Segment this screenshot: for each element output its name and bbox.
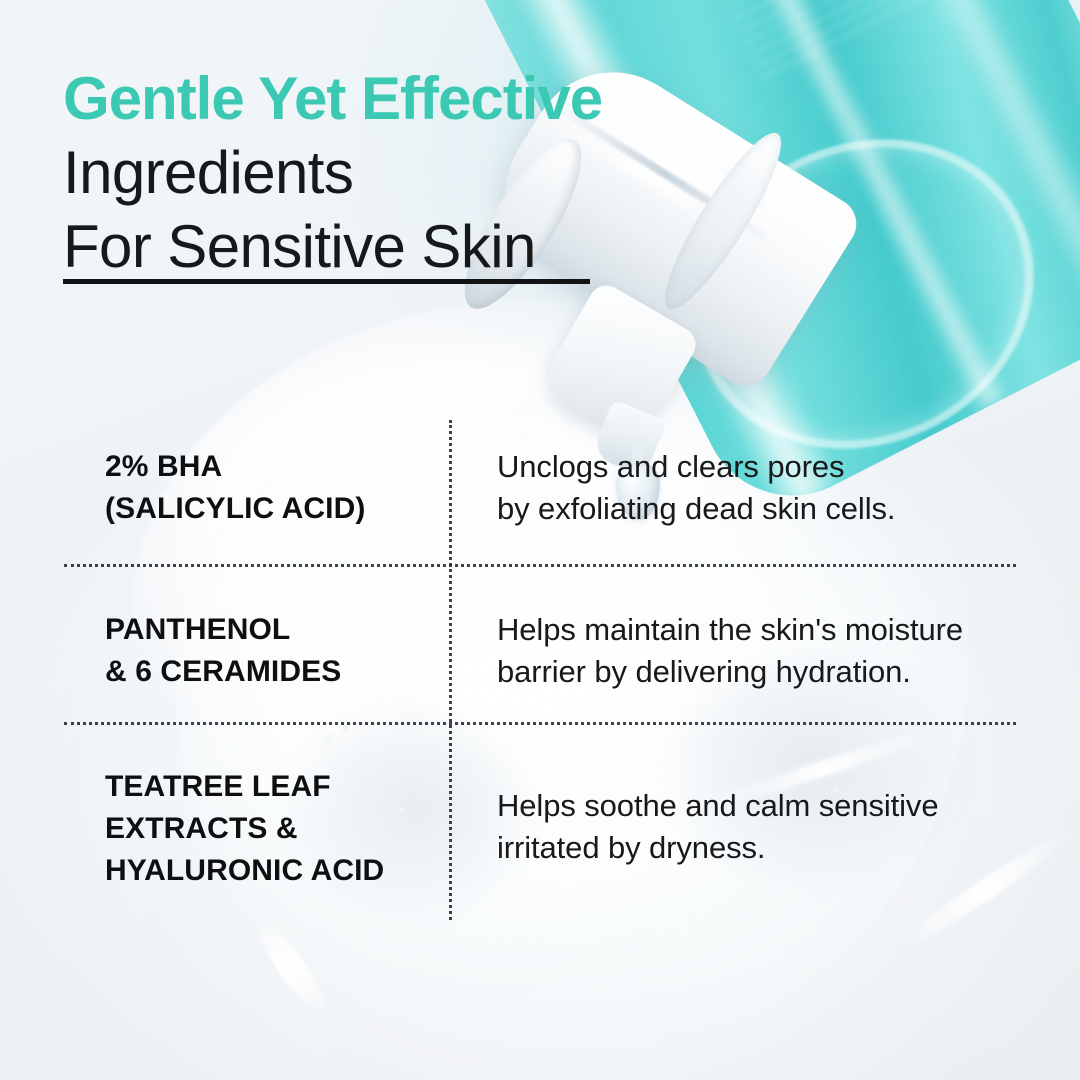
headline-line-2: Ingredients <box>63 136 763 210</box>
table-row-divider-2 <box>64 722 1016 725</box>
ingredient-benefit: Unclogs and clears pores by exfoliating … <box>497 446 1027 530</box>
ingredient-name-line: PANTHENOL <box>105 613 290 646</box>
headline-line-3: For Sensitive Skin <box>63 210 763 284</box>
infographic-canvas: Gentle Yet Effective Ingredients For Sen… <box>0 0 1080 1080</box>
ingredient-name: TEATREE LEAF EXTRACTS & HYALURONIC ACID <box>105 766 435 892</box>
ingredient-name-line: & 6 CERAMIDES <box>105 655 341 688</box>
ingredient-benefit-line: by exfoliating dead skin cells. <box>497 491 895 526</box>
ingredient-name-line: HYALURONIC ACID <box>105 854 384 887</box>
ingredient-benefit: Helps maintain the skin's moisture barri… <box>497 609 1027 693</box>
table-vertical-divider <box>449 420 452 920</box>
headline-accent-line: Gentle Yet Effective <box>63 62 763 136</box>
ingredient-benefit-line: Helps maintain the skin's moisture <box>497 612 963 647</box>
ingredient-name: PANTHENOL & 6 CERAMIDES <box>105 609 435 693</box>
ingredient-name-line: 2% BHA <box>105 450 222 483</box>
ingredient-name-line: (SALICYLIC ACID) <box>105 492 365 525</box>
content-overlay: Gentle Yet Effective Ingredients For Sen… <box>0 0 1080 1080</box>
ingredient-name: 2% BHA (SALICYLIC ACID) <box>105 446 435 530</box>
table-row-divider-1 <box>64 564 1016 567</box>
page-title: Gentle Yet Effective Ingredients For Sen… <box>63 62 763 284</box>
ingredient-benefit: Helps soothe and calm sensitive irritate… <box>497 785 1027 869</box>
ingredient-name-line: TEATREE LEAF <box>105 770 331 803</box>
ingredient-name-line: EXTRACTS & <box>105 812 298 845</box>
ingredient-benefit-line: Unclogs and clears pores <box>497 449 844 484</box>
ingredient-benefit-line: irritated by dryness. <box>497 830 765 865</box>
ingredient-benefit-line: barrier by delivering hydration. <box>497 654 911 689</box>
headline-underline <box>63 279 590 284</box>
ingredient-benefit-line: Helps soothe and calm sensitive <box>497 788 938 823</box>
